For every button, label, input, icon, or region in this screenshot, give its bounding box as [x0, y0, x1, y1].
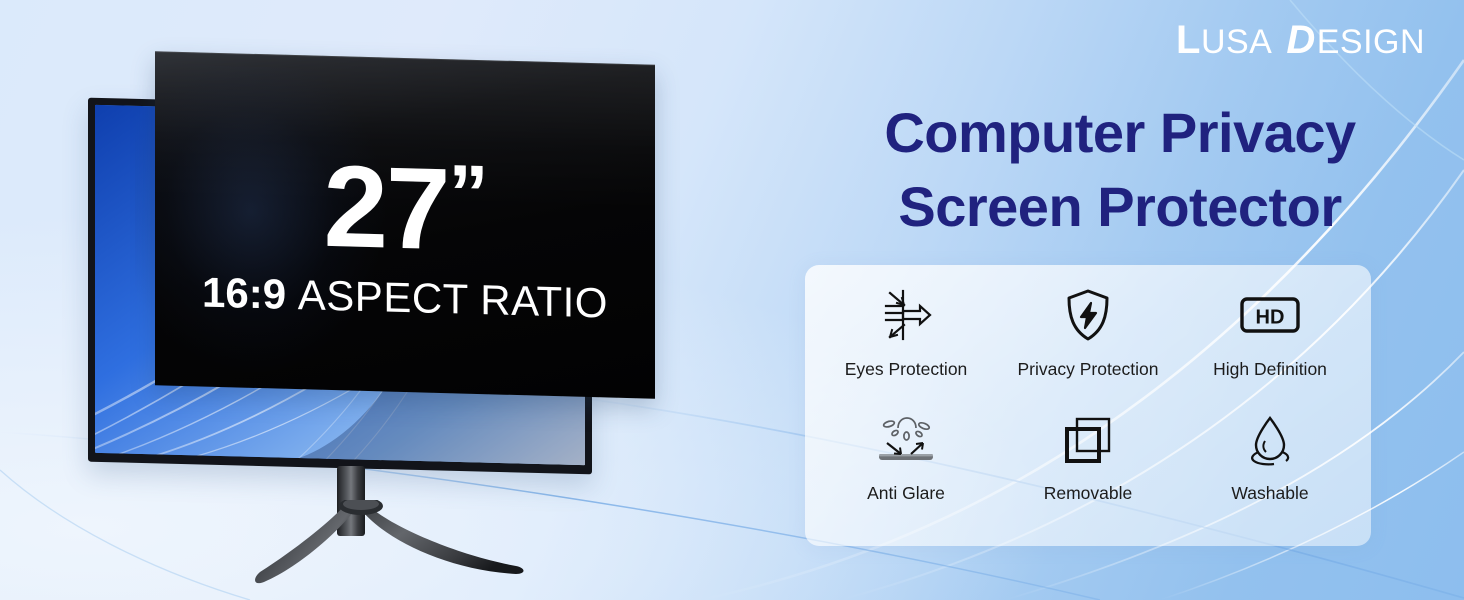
feature-label: Privacy Protection	[1017, 359, 1158, 380]
svg-text:HD: HD	[1256, 307, 1285, 329]
feature-eyes-protection: Eyes Protection	[815, 281, 997, 407]
feature-privacy-protection: Privacy Protection	[997, 281, 1179, 407]
feature-high-definition: HD High Definition	[1179, 281, 1361, 407]
feature-label: Washable	[1231, 483, 1308, 504]
aspect-ratio-value: 16:9	[202, 269, 286, 318]
features-grid: Eyes Protection Privacy Protection HD	[805, 265, 1371, 546]
eyes-protection-icon	[878, 287, 934, 343]
water-droplet-icon	[1245, 413, 1295, 469]
page-title: Computer Privacy Screen Protector	[840, 96, 1400, 245]
logo-text-usa: USA	[1201, 25, 1272, 59]
product-banner: LUSADESIGN Computer Privacy Screen Prote…	[0, 0, 1464, 600]
screen-size-label: 27”	[155, 147, 655, 270]
logo-letter-l: L	[1176, 20, 1201, 60]
removable-squares-icon	[1062, 413, 1114, 469]
anti-glare-icon	[875, 413, 937, 469]
feature-label: Eyes Protection	[845, 359, 968, 380]
screen-spec-text: 27” 16:9 ASPECT RATIO	[155, 147, 655, 326]
logo-letter-d: D	[1286, 20, 1315, 60]
feature-label: High Definition	[1213, 359, 1327, 380]
hd-badge-icon: HD	[1239, 287, 1301, 343]
privacy-filter-panel: 27” 16:9 ASPECT RATIO	[155, 51, 655, 399]
privacy-shield-icon	[1064, 287, 1112, 343]
headline-line-1: Computer Privacy	[884, 101, 1355, 164]
monitor-stand-base	[210, 500, 560, 590]
feature-washable: Washable	[1179, 407, 1361, 533]
headline-line-2: Screen Protector	[840, 170, 1400, 244]
logo-text-esign: ESIGN	[1317, 25, 1425, 59]
inch-mark: ”	[449, 148, 487, 238]
aspect-ratio-caption: ASPECT RATIO	[298, 271, 608, 326]
monitor-illustration: 27” 16:9 ASPECT RATIO	[0, 0, 760, 600]
feature-anti-glare: Anti Glare	[815, 407, 997, 533]
brand-logo: LUSADESIGN	[1176, 20, 1425, 60]
features-card: Eyes Protection Privacy Protection HD	[805, 265, 1371, 546]
feature-label: Removable	[1044, 483, 1133, 504]
feature-label: Anti Glare	[867, 483, 945, 504]
feature-removable: Removable	[997, 407, 1179, 533]
